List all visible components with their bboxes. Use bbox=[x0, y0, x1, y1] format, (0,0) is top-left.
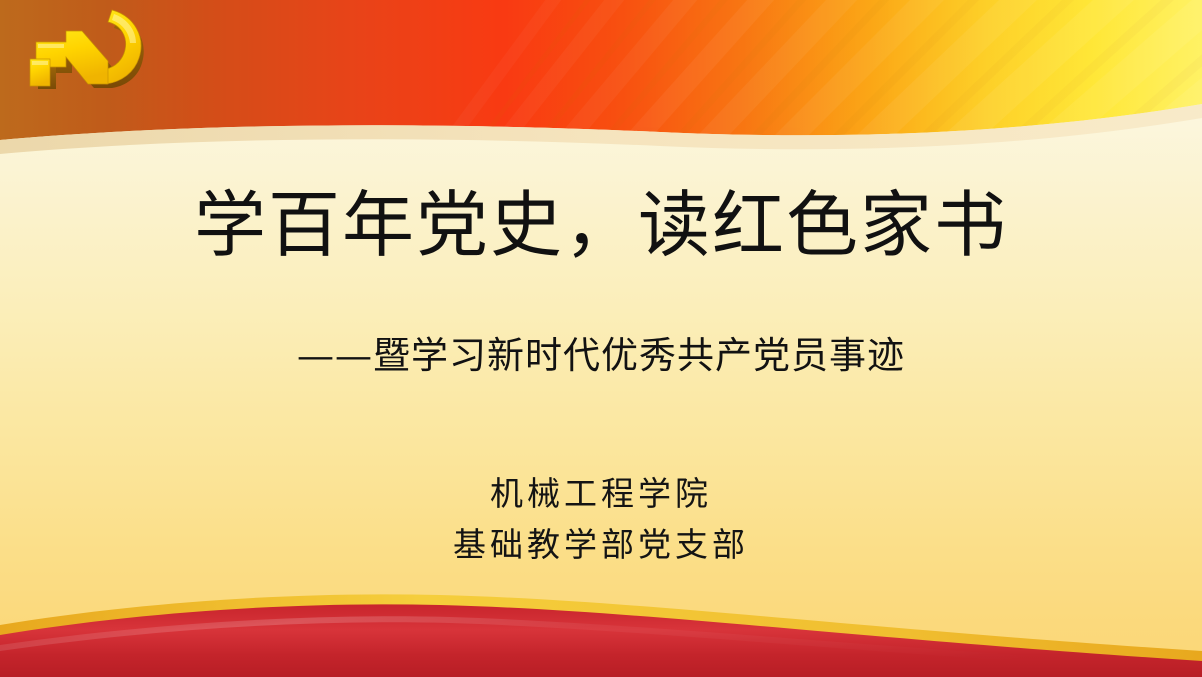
presentation-slide: 学百年党史，读红色家书 ——暨学习新时代优秀共产党员事迹 机械工程学院 基础教学… bbox=[0, 0, 1202, 677]
slide-subtitle: ——暨学习新时代优秀共产党员事迹 bbox=[0, 332, 1202, 380]
affiliation-line-college: 机械工程学院 bbox=[0, 468, 1202, 519]
slide-content: 学百年党史，读红色家书 ——暨学习新时代优秀共产党员事迹 机械工程学院 基础教学… bbox=[0, 0, 1202, 677]
slide-main-title: 学百年党史，读红色家书 bbox=[0, 185, 1202, 266]
slide-affiliation: 机械工程学院 基础教学部党支部 bbox=[0, 468, 1202, 570]
affiliation-line-branch: 基础教学部党支部 bbox=[0, 519, 1202, 570]
